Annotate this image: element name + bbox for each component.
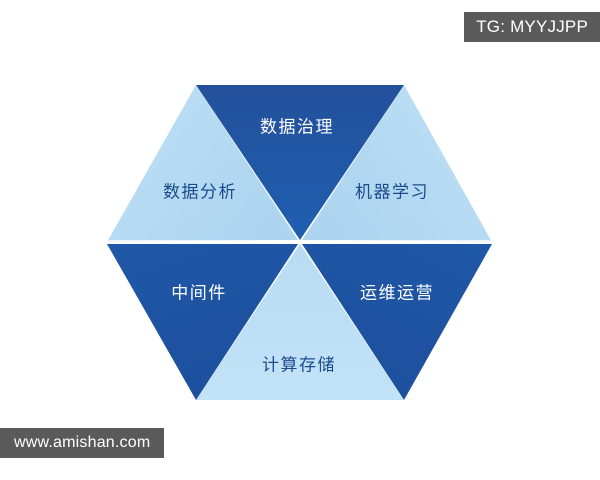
hexagon-diagram: 数据治理 机器学习 运维运营 计算存储 中间件 数据分析 [0,0,600,480]
site-watermark-badge: www.amishan.com [0,428,164,458]
wedge-top-label: 数据治理 [260,118,334,138]
wedge-lower-left-label: 中间件 [171,284,227,304]
hexagon-equator-seam [107,240,492,243]
wedge-upper-right-label: 机器学习 [355,183,429,203]
wedge-lower-right-label: 运维运营 [360,284,434,304]
tag-watermark-badge: TG: MYYJJPP [464,12,600,42]
wedge-bottom-label: 计算存储 [262,356,336,376]
wedge-upper-left-label: 数据分析 [163,183,237,203]
screenshot-canvas: 数据治理 机器学习 运维运营 计算存储 中间件 数据分析 TG: [0,0,600,480]
